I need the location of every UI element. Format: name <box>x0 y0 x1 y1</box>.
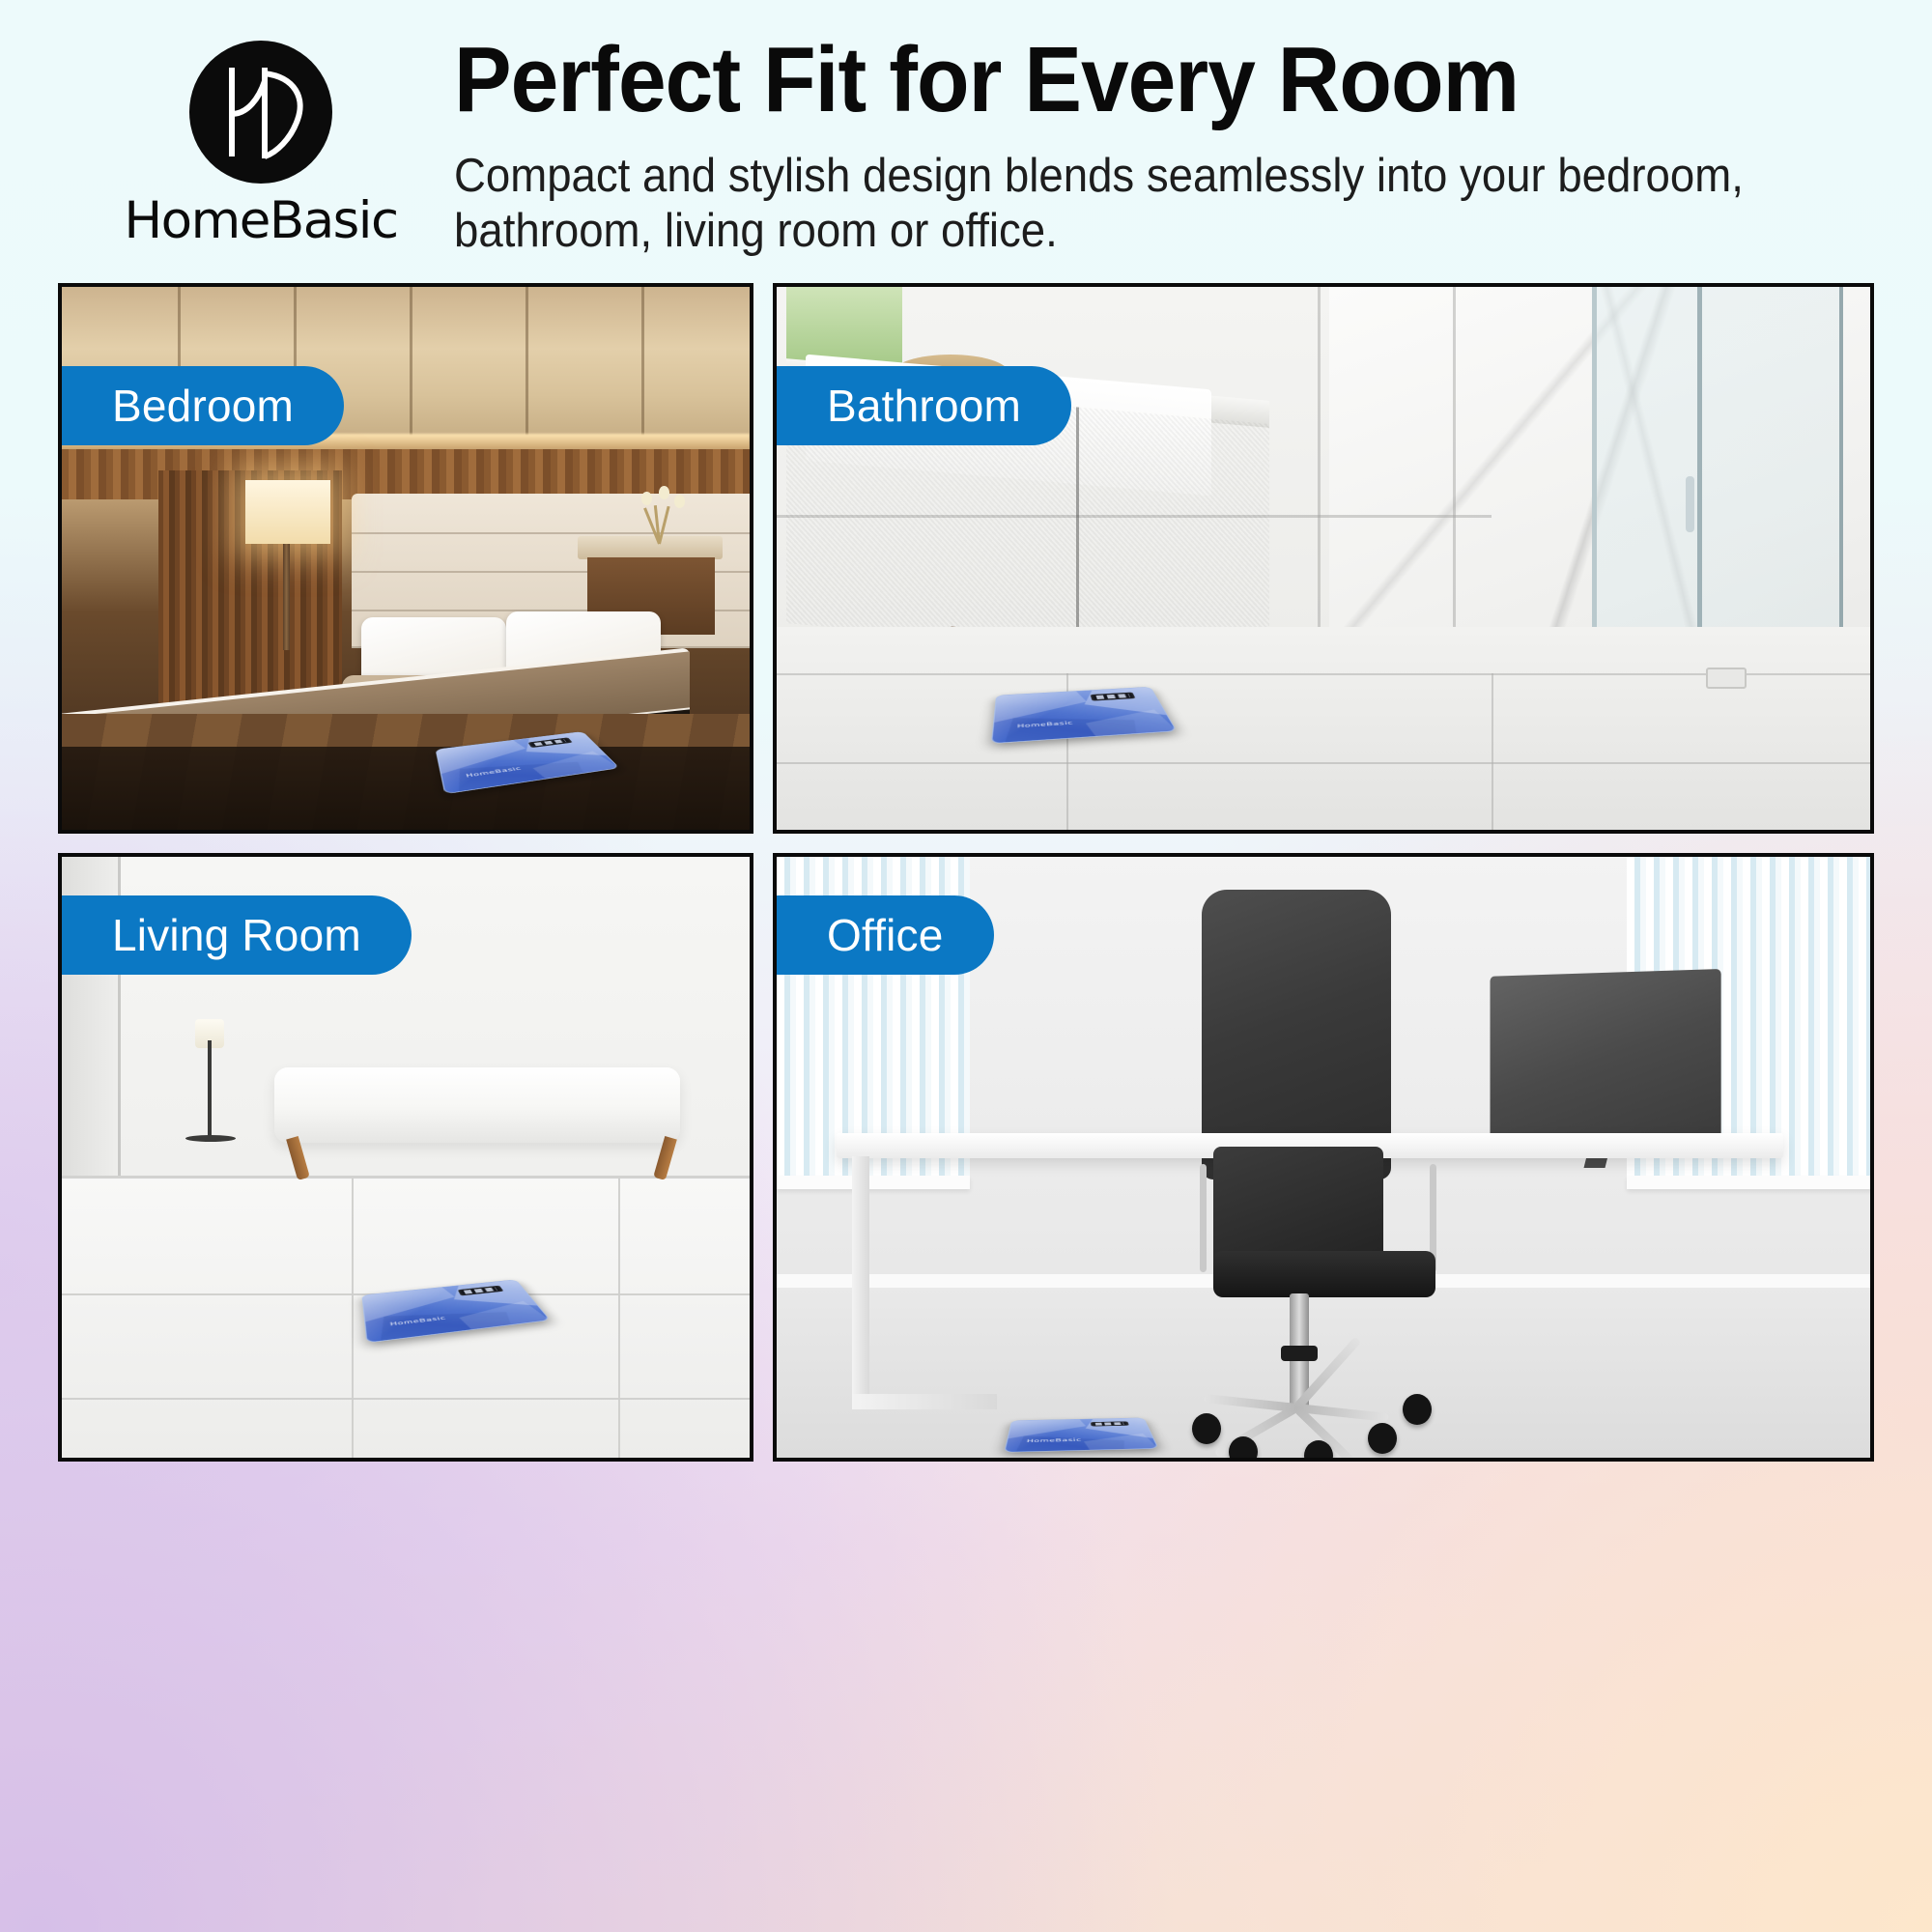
panel-bedroom[interactable]: HomeBasic Bedroom <box>58 283 753 834</box>
product-brand-label: HomeBasic <box>1017 721 1073 729</box>
room-panel-grid: HomeBasic Bedroom <box>58 283 1874 1877</box>
label-pill-bathroom: Bathroom <box>777 366 1071 445</box>
brand-name: HomeBasic <box>106 191 415 250</box>
panel-living-room[interactable]: HomeBasic Living Room <box>58 853 753 1462</box>
page-title: Perfect Fit for Every Room <box>454 33 1766 128</box>
product-scale-office: HomeBasic <box>1004 1418 1158 1453</box>
panel-label-bathroom: Bathroom <box>827 384 1021 428</box>
panel-label-bedroom: Bedroom <box>112 384 294 428</box>
page-subtitle: Compact and stylish design blends seamle… <box>454 149 1766 260</box>
hb-monogram-circle-logo <box>187 39 334 185</box>
product-brand-label: HomeBasic <box>1026 1438 1082 1444</box>
panel-bathroom[interactable]: HomeBasic Bathroom <box>773 283 1874 834</box>
infographic-page: HomeBasic Perfect Fit for Every Room Com… <box>0 0 1932 1932</box>
product-brand-label: HomeBasic <box>466 766 524 779</box>
panel-label-office: Office <box>827 913 944 957</box>
label-pill-office: Office <box>777 895 994 975</box>
header: HomeBasic Perfect Fit for Every Room Com… <box>0 0 1932 290</box>
panel-office[interactable]: HomeBasic Office <box>773 853 1874 1462</box>
header-text-block: Perfect Fit for Every Room Compact and s… <box>454 33 1864 260</box>
panel-label-living-room: Living Room <box>112 913 361 957</box>
product-brand-label: HomeBasic <box>389 1316 446 1327</box>
brand-logo: HomeBasic <box>106 39 415 250</box>
label-pill-living-room: Living Room <box>62 895 412 975</box>
label-pill-bedroom: Bedroom <box>62 366 344 445</box>
